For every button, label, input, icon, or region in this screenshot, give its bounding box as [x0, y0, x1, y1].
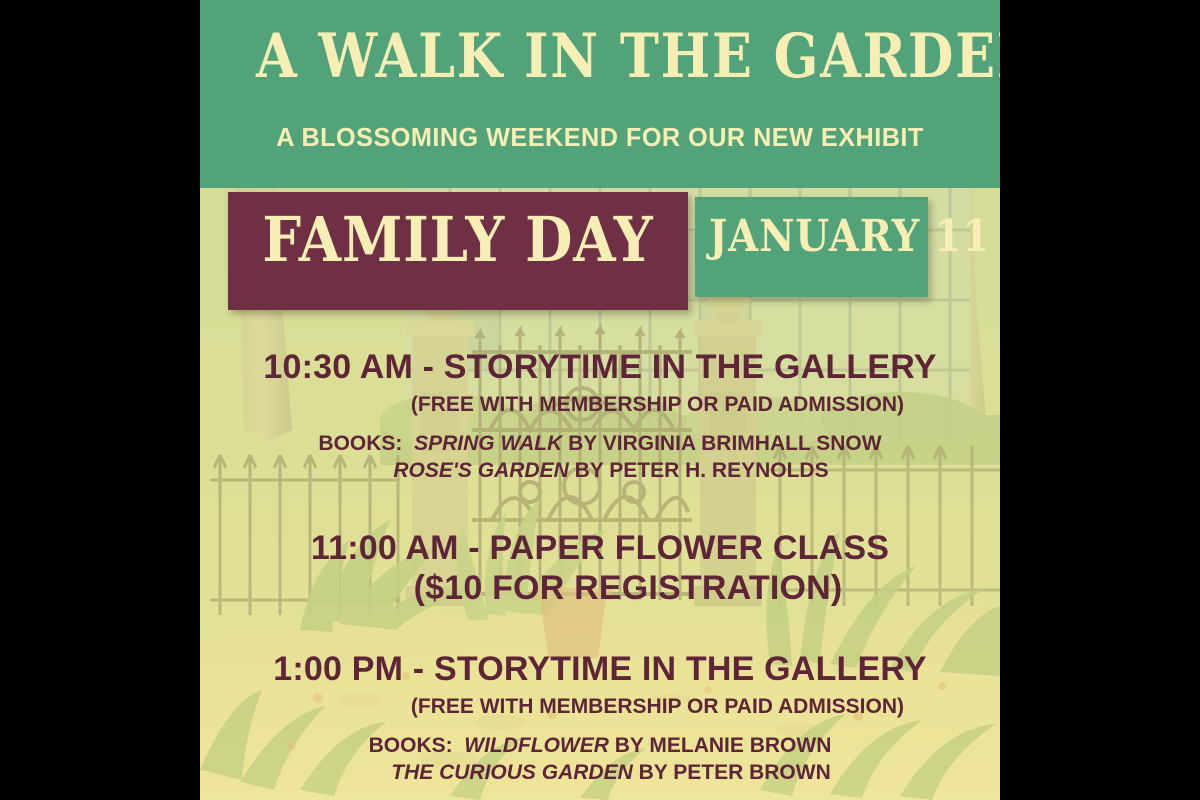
book-title: WILDFLOWER: [464, 734, 609, 757]
schedule-item-books-line: BOOKS: SPRING WALK BY VIRGINIA BRIMHALL …: [200, 419, 1000, 458]
book-title: SPRING WALK: [414, 432, 562, 455]
schedule-item-books-line: THE CURIOUS GARDEN BY PETER BROWN: [200, 759, 1000, 787]
books-label: BOOKS:: [318, 432, 402, 455]
letterbox-bar-right: [1000, 0, 1200, 800]
schedule-item-books-line: ROSE'S GARDEN BY PETER H. REYNOLDS: [200, 457, 1000, 485]
schedule-item: 10:30 AM - STORYTIME IN THE GALLERY (FRE…: [200, 348, 1000, 485]
event-date-plaque: JANUARY 11: [695, 197, 928, 297]
schedule-item-headline: 11:00 AM - PAPER FLOWER CLASS: [200, 529, 1000, 568]
book-author: BY PETER BROWN: [639, 761, 831, 784]
book-title: THE CURIOUS GARDEN: [391, 761, 633, 784]
schedule-item-books-line: BOOKS: WILDFLOWER BY MELANIE BROWN: [200, 721, 1000, 760]
book-author: BY VIRGINIA BRIMHALL SNOW: [568, 432, 881, 455]
schedule-item-headline-secondary: ($10 FOR REGISTRATION): [200, 569, 1000, 608]
schedule-spacer: [200, 608, 1000, 650]
family-day-label: FAMILY DAY: [256, 209, 661, 271]
schedule-item: 1:00 PM - STORYTIME IN THE GALLERY (FREE…: [200, 650, 1000, 787]
family-day-plaque: FAMILY DAY: [228, 192, 688, 310]
schedule-spacer: [200, 485, 1000, 529]
letterbox-bar-left: [0, 0, 200, 800]
poster: A WALK IN THE GARDEN A BLOSSOMING WEEKEN…: [200, 0, 1000, 800]
poster-title: A WALK IN THE GARDEN: [256, 26, 944, 87]
books-label: BOOKS:: [369, 734, 453, 757]
book-author: BY MELANIE BROWN: [615, 734, 832, 757]
schedule-item-note: (FREE WITH MEMBERSHIP OR PAID ADMISSION): [200, 689, 1000, 720]
schedule-item-headline: 10:30 AM - STORYTIME IN THE GALLERY: [200, 348, 1000, 387]
schedule-list: 10:30 AM - STORYTIME IN THE GALLERY (FRE…: [200, 348, 1000, 787]
book-title: ROSE'S GARDEN: [393, 459, 568, 482]
book-author: BY PETER H. REYNOLDS: [575, 459, 829, 482]
header-banner: A WALK IN THE GARDEN A BLOSSOMING WEEKEN…: [200, 0, 1000, 188]
poster-canvas: A WALK IN THE GARDEN A BLOSSOMING WEEKEN…: [0, 0, 1200, 800]
schedule-item-headline: 1:00 PM - STORYTIME IN THE GALLERY: [200, 650, 1000, 689]
schedule-item-note: (FREE WITH MEMBERSHIP OR PAID ADMISSION): [200, 387, 1000, 418]
schedule-item: 11:00 AM - PAPER FLOWER CLASS ($10 FOR R…: [200, 529, 1000, 608]
poster-subtitle: A BLOSSOMING WEEKEND FOR OUR NEW EXHIBIT: [212, 122, 988, 153]
event-date-label: JANUARY 11: [709, 215, 914, 259]
